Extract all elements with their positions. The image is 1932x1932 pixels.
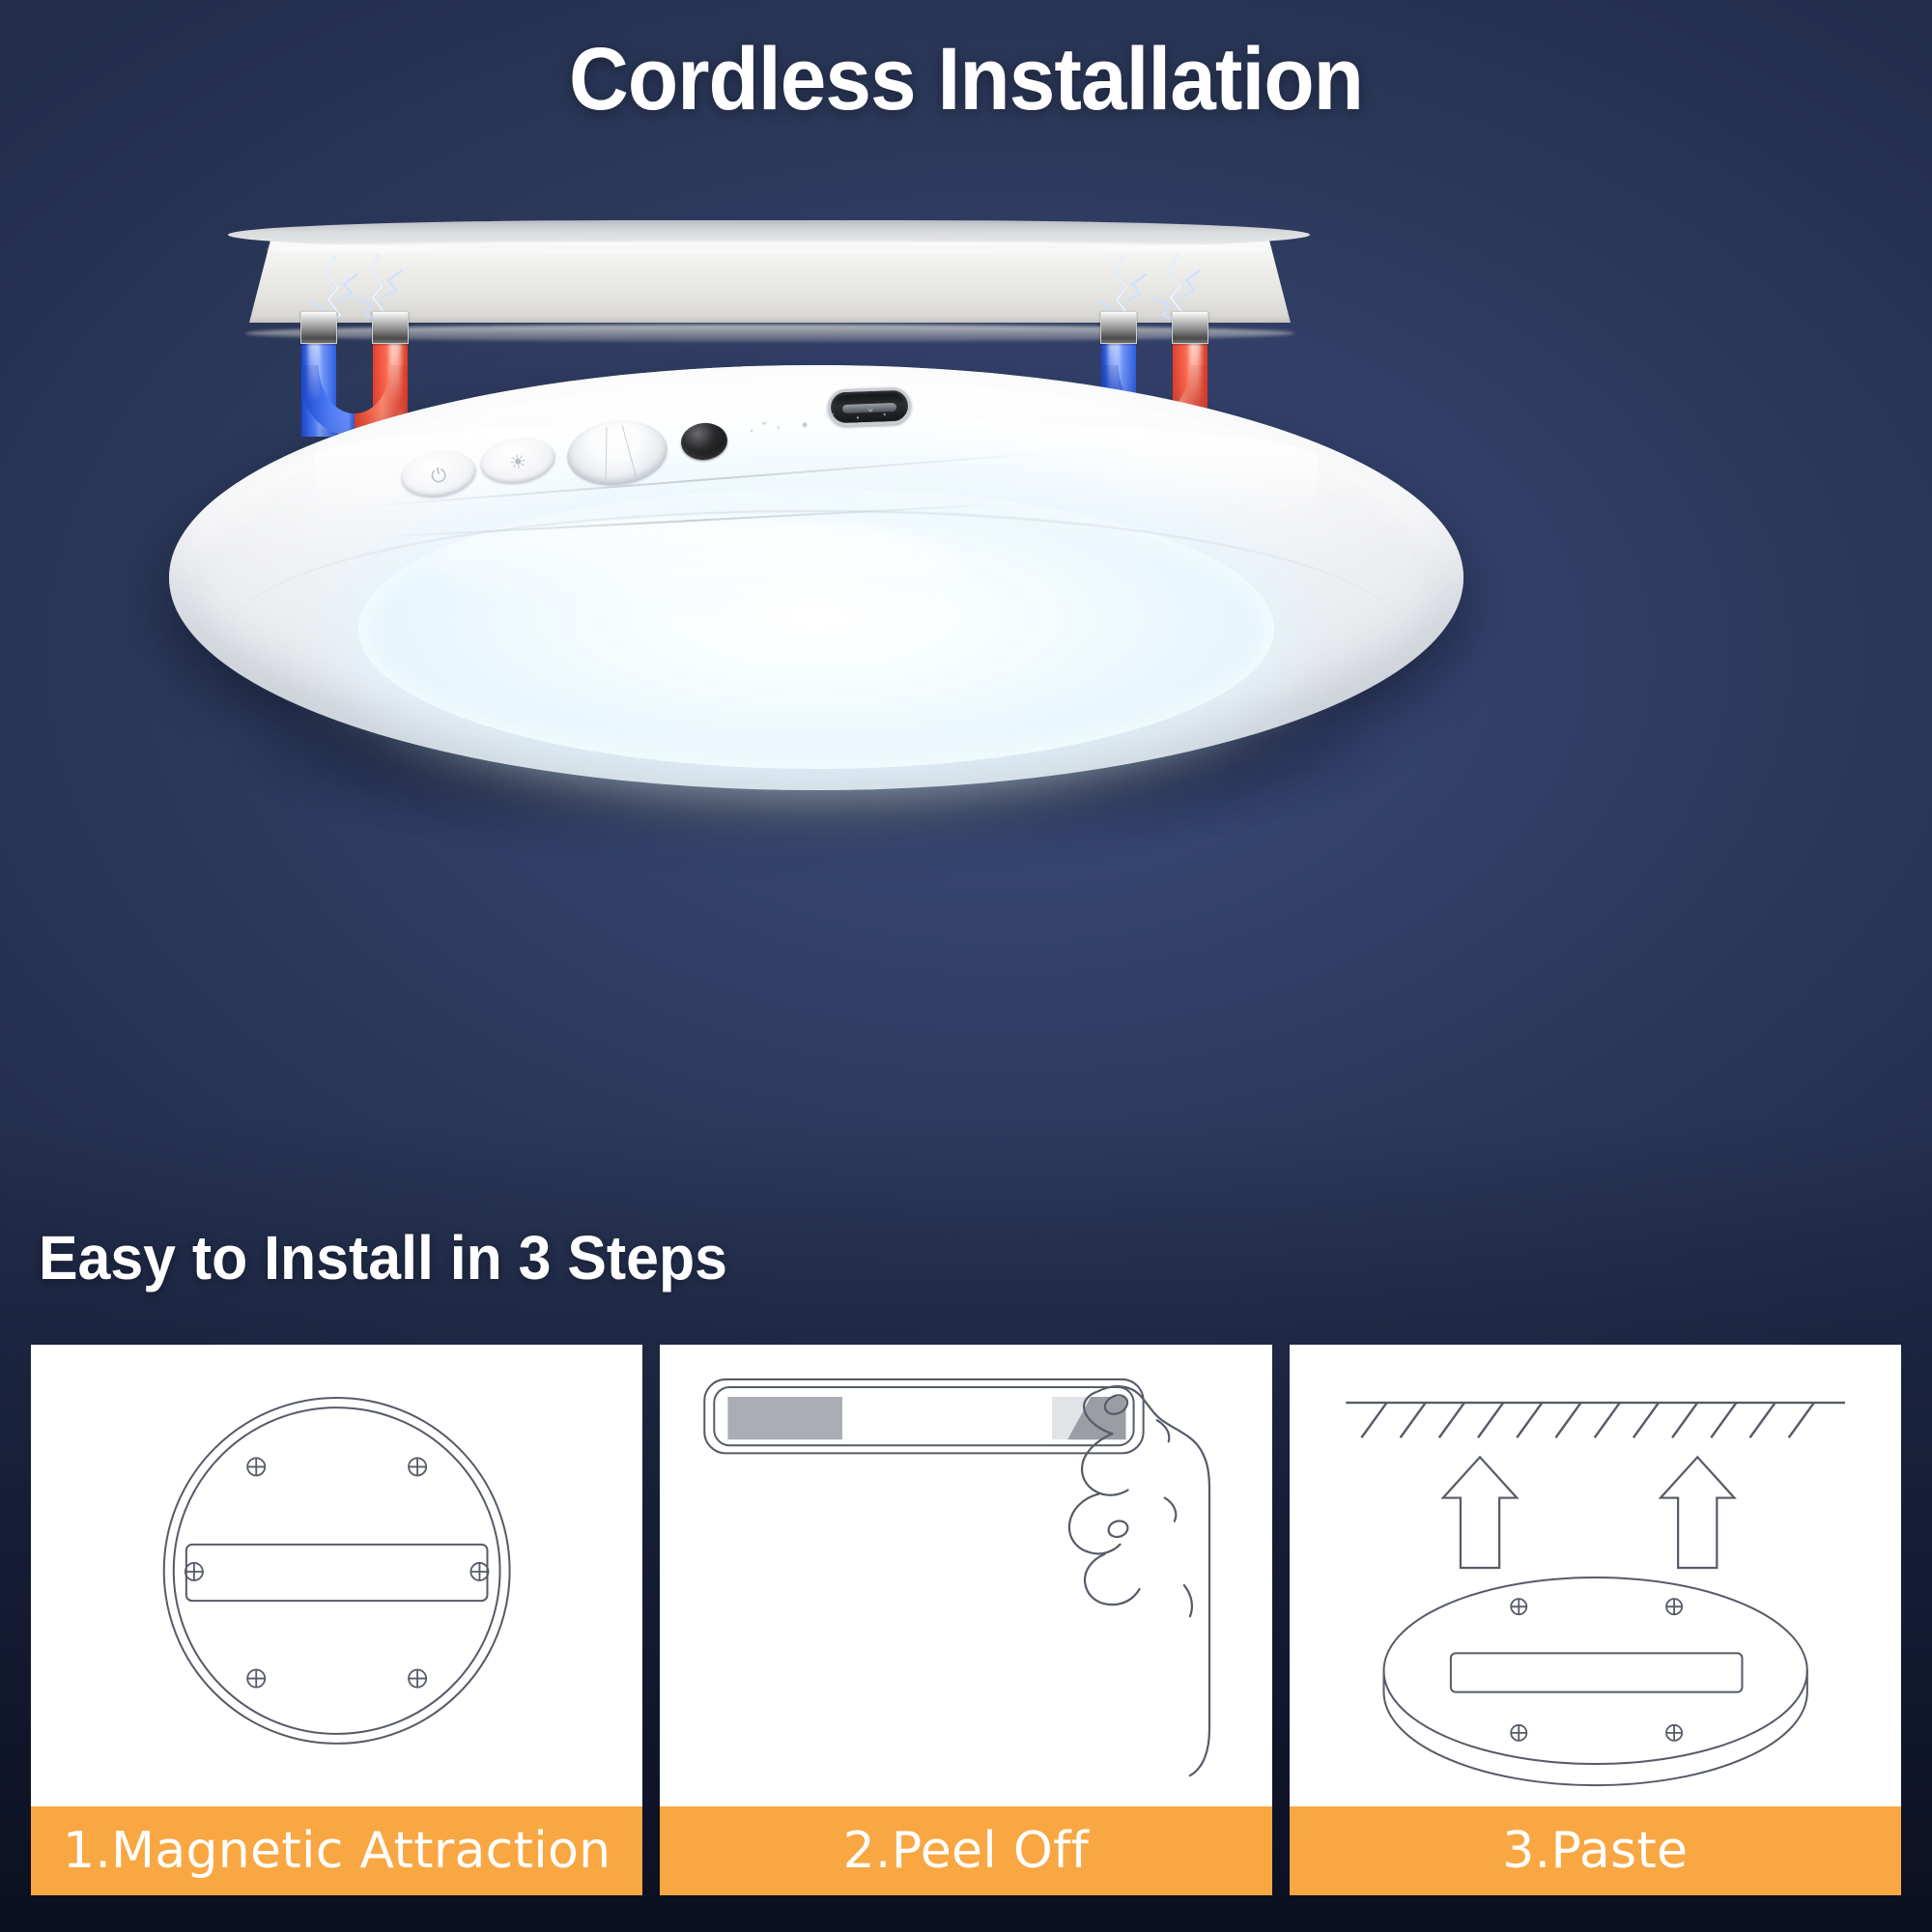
magnet-pole-tip-left: [1100, 311, 1137, 344]
lamp-top-ellipse: [1383, 1577, 1806, 1764]
step-card-2: 2.Peel Off: [660, 1345, 1271, 1895]
step-3-illustration: [1290, 1345, 1901, 1806]
step-card-3: 3.Paste: [1290, 1345, 1901, 1895]
step-1-caption: 1.Magnetic Attraction: [31, 1806, 642, 1895]
adhesive-pad-left: [728, 1397, 843, 1439]
peel-off-drawing: [660, 1345, 1271, 1806]
magnet-pole-tip-left: [300, 311, 337, 344]
page-title: Cordless Installation: [68, 33, 1864, 127]
section-subtitle: Easy to Install in 3 Steps: [39, 1222, 727, 1293]
magnet-pole-tip-right: [1172, 311, 1208, 344]
ceiling-hatch: [1346, 1403, 1845, 1437]
install-steps: 1.Magnetic Attraction: [31, 1345, 1901, 1895]
step-3-caption: 3.Paste: [1290, 1806, 1901, 1895]
magnetic-attraction-drawing: [31, 1345, 642, 1806]
led-ceiling-light: ⏻ ☀ ·ˇ· ∙ ˇ ·ˇ·: [169, 365, 1463, 810]
step-1-illustration: [31, 1345, 642, 1806]
magnet-pole-tip-right: [372, 311, 409, 344]
paste-to-ceiling-drawing: [1290, 1345, 1901, 1806]
magnet-bar: [1451, 1653, 1743, 1691]
lamp-side-wall: [1383, 1671, 1806, 1786]
product-infographic: Cordless Installation: [0, 0, 1932, 1932]
plate-highlight: [267, 241, 1271, 257]
step-2-illustration: [660, 1345, 1271, 1806]
step-2-caption: 2.Peel Off: [660, 1806, 1271, 1895]
lamp-seam-crease: [231, 510, 1402, 753]
up-arrow-left: [1442, 1457, 1516, 1568]
step-card-1: 1.Magnetic Attraction: [31, 1345, 642, 1895]
up-arrow-right: [1661, 1457, 1734, 1568]
screw-marks: [1511, 1599, 1682, 1741]
